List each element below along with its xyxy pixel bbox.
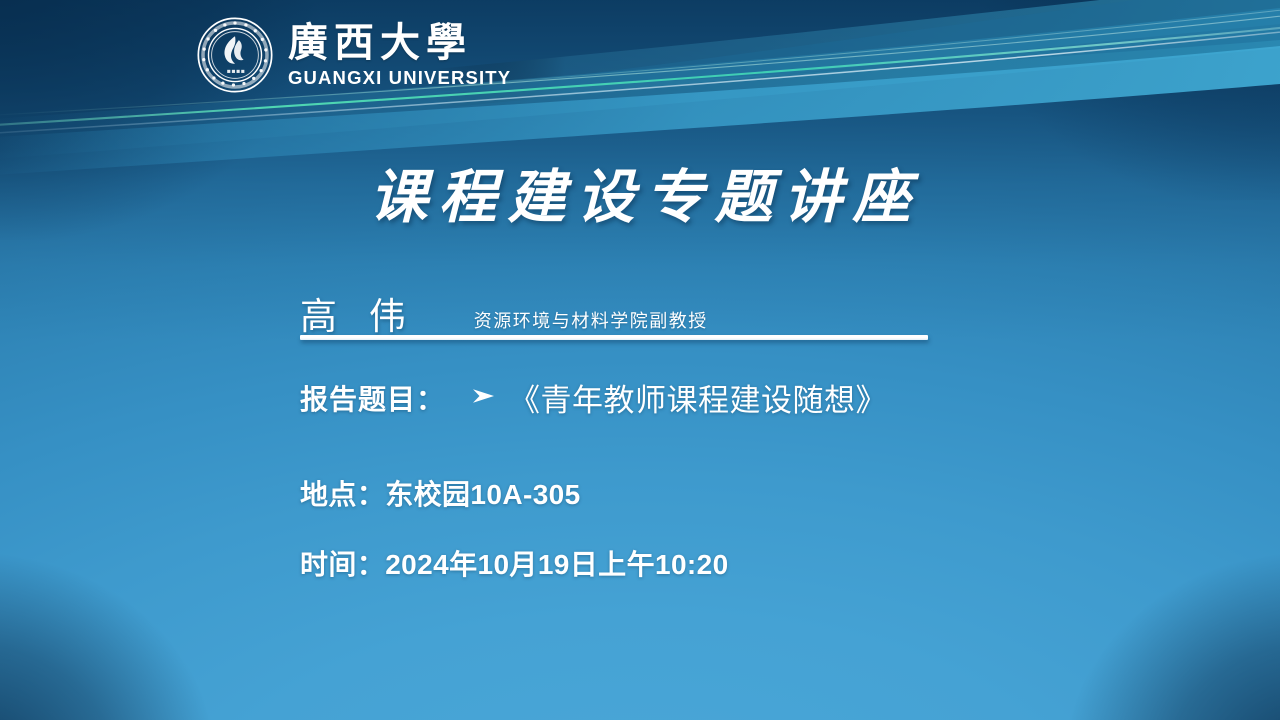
report-title-label: 报告题目： <box>300 378 445 418</box>
university-name-cn: 廣西大學 <box>288 22 472 64</box>
corner-vignette-bottom-right <box>1060 550 1280 720</box>
speaker-divider-line <box>300 335 928 340</box>
time-line: 时间：2024年10月19日上午10:20 <box>300 543 729 583</box>
speaker-name: 高 伟 <box>300 286 416 340</box>
arrow-bullet-icon <box>471 386 497 410</box>
university-logo: 廣西大學 GUANGXI UNIVERSITY <box>196 16 511 94</box>
university-logo-text: 廣西大學 GUANGXI UNIVERSITY <box>288 20 511 90</box>
university-name-en: GUANGXI UNIVERSITY <box>288 66 511 90</box>
slide-main-title: 课程建设专题讲座 <box>0 150 1280 234</box>
report-title-row: 报告题目： 《青年教师课程建设随想》 <box>300 375 887 420</box>
report-title-value: 《青年教师课程建设随想》 <box>509 375 887 420</box>
guangxi-university-seal-icon <box>196 16 274 94</box>
presentation-slide: 廣西大學 GUANGXI UNIVERSITY 课程建设专题讲座 高 伟 资源环… <box>0 0 1280 720</box>
speaker-affiliation: 资源环境与材料学院副教授 <box>474 307 708 333</box>
corner-vignette-bottom-left <box>0 550 220 720</box>
speaker-block: 高 伟 资源环境与材料学院副教授 <box>300 286 708 340</box>
venue-line: 地点：东校园10A-305 <box>300 473 581 513</box>
